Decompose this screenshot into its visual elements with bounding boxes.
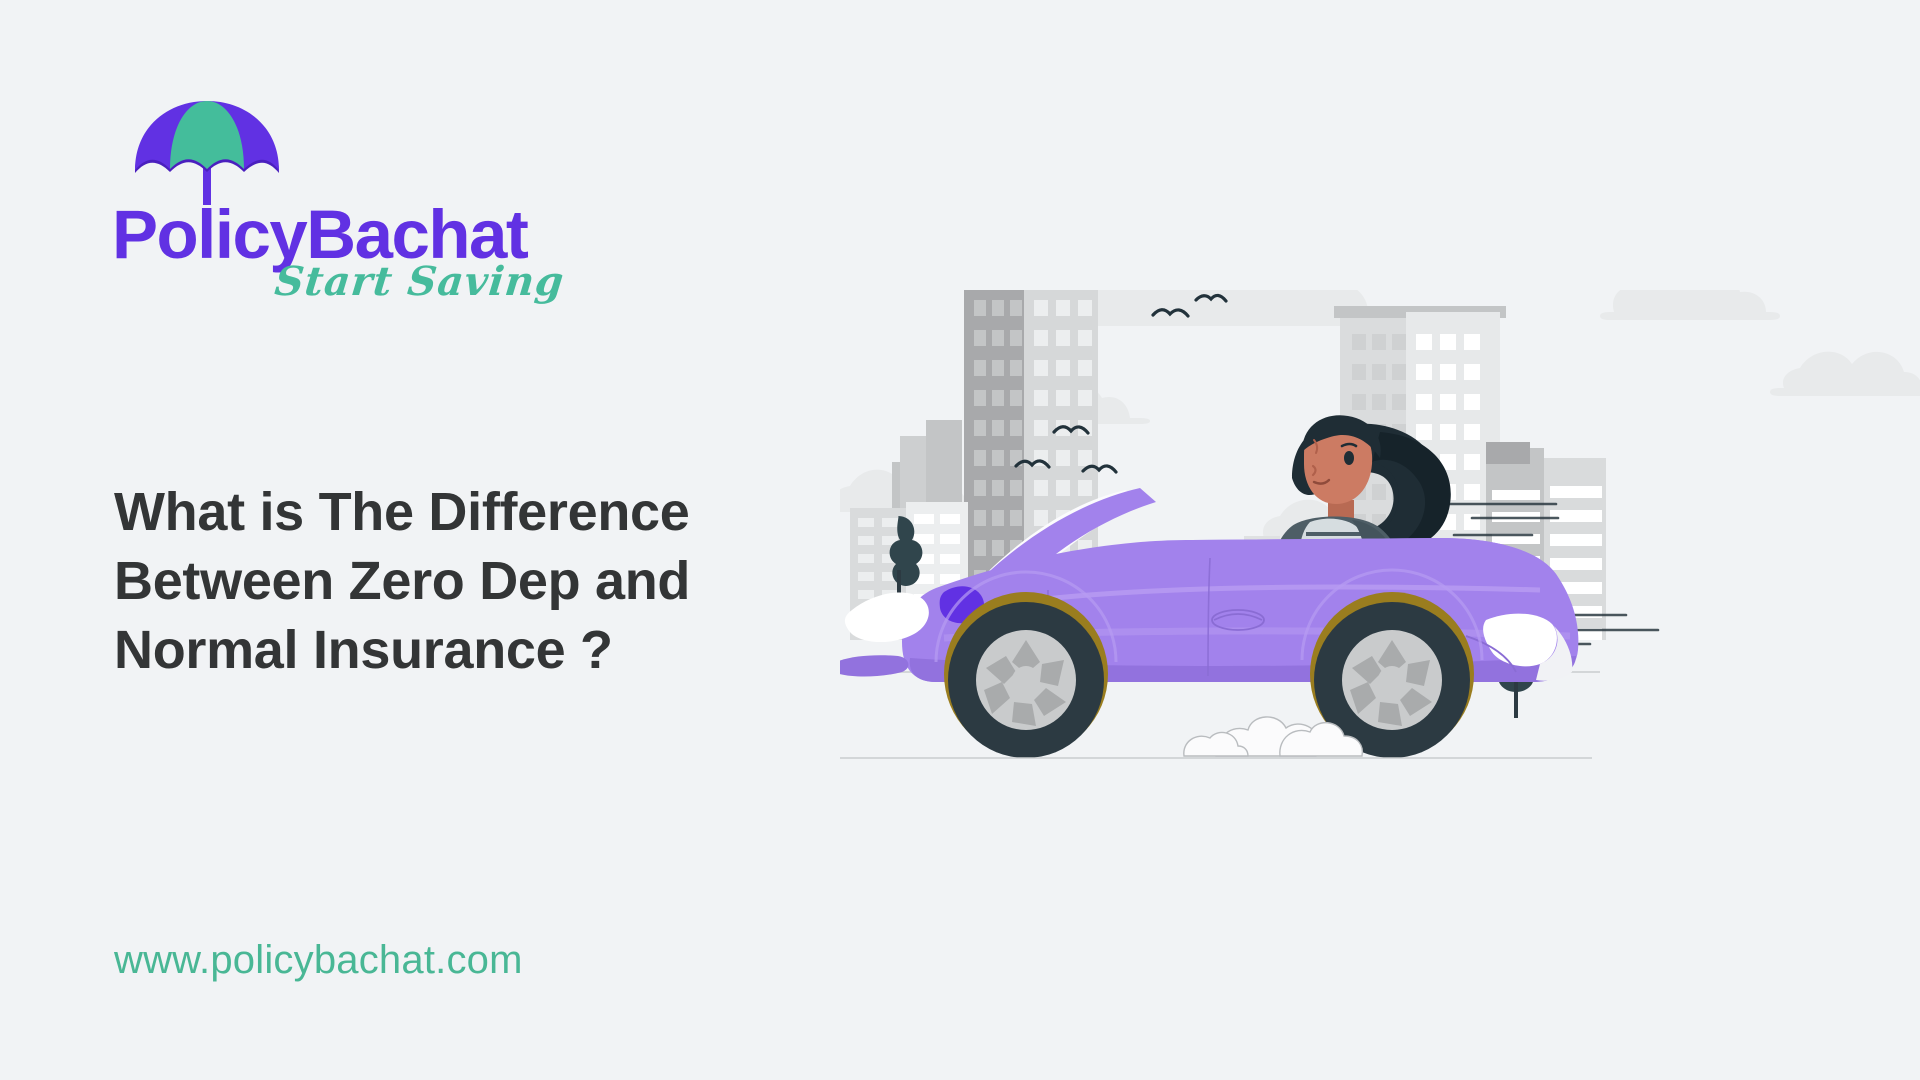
logo-tagline: Start Saving: [273, 262, 566, 302]
front-wheel: [944, 592, 1108, 758]
headline-line-1: What is The Difference: [114, 478, 874, 547]
umbrella-icon: [132, 100, 282, 205]
page-title: What is The Difference Between Zero Dep …: [114, 478, 874, 685]
hero-illustration: [840, 290, 1920, 820]
policybachat-logo[interactable]: PolicyBachat Start Saving: [112, 100, 532, 290]
banner-canvas: PolicyBachat Start Saving What is The Di…: [0, 0, 1920, 1080]
headline-line-3: Normal Insurance ?: [114, 616, 874, 685]
website-url[interactable]: www.policybachat.com: [114, 938, 523, 983]
headline-line-2: Between Zero Dep and: [114, 547, 874, 616]
